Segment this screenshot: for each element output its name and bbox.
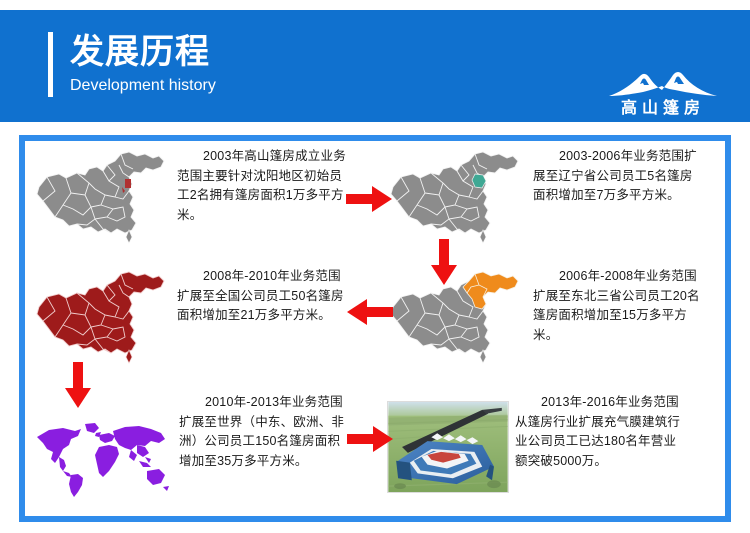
page-header: 发展历程 Development history 高山篷房 (0, 10, 750, 122)
page-subtitle: Development history (70, 75, 216, 97)
arrow-row1-right-icon (346, 184, 392, 214)
world-map-purple-icon (33, 393, 175, 499)
timeline-item-stage-2013-2016: 2013年-2016年业务范围从篷房行业扩展充气膜建筑行业公司员工已达180名年… (387, 393, 719, 493)
title-text-group: 发展历程 Development history (70, 32, 216, 97)
brand-logo: 高山篷房 (602, 66, 724, 124)
timeline-item-text: 2013年-2016年业务范围从篷房行业扩展充气膜建筑行业公司员工已达180名年… (515, 393, 687, 471)
arrow-row2-left-icon (347, 297, 393, 327)
arrow-col-right-down-icon (429, 239, 459, 285)
arrow-row3-right-icon (347, 424, 393, 454)
title-accent-bar (48, 32, 53, 97)
china-map-red-nationwide-icon (33, 267, 173, 375)
timeline-item-text: 2010年-2013年业务范围扩展至世界（中东、欧洲、非洲）公司员工150名篷房… (179, 393, 351, 471)
timeline-item-stage-2003: 2003年高山篷房成立业务范围主要针对沈阳地区初始员工2名拥有篷房面积1万多平方… (33, 147, 363, 255)
timeline-item-stage-2010-2013: 2010年-2013年业务范围扩展至世界（中东、欧洲、非洲）公司员工150名篷房… (33, 393, 363, 499)
aerial-photo-tent-factory-icon (387, 393, 509, 493)
arrow-col-left-down-icon (63, 362, 93, 408)
timeline-item-stage-2008-2010: 2008年-2010年业务范围扩展至全国公司员工50名篷房面积增加至21万多平方… (33, 267, 363, 375)
china-map-gray-shenyang-highlight-icon (33, 147, 173, 255)
timeline-item-text: 2008年-2010年业务范围扩展至全国公司员工50名篷房面积增加至21万多平方… (177, 267, 349, 326)
header-title-block: 发展历程 Development history (48, 32, 216, 97)
mountain-icon (607, 66, 719, 98)
timeline-item-text: 2006年-2008年业务范围扩展至东北三省公司员工20名篷房面积增加至15万多… (533, 267, 705, 345)
brand-name: 高山篷房 (621, 99, 705, 119)
timeline-item-text: 2003-2006年业务范围扩展至辽宁省公司员工5名篷房面积增加至7万多平方米。 (533, 147, 705, 206)
slide-canvas: 发展历程 Development history 高山篷房 (0, 0, 750, 533)
page-title: 发展历程 (70, 32, 216, 72)
timeline-item-text: 2003年高山篷房成立业务范围主要针对沈阳地区初始员工2名拥有篷房面积1万多平方… (177, 147, 349, 225)
